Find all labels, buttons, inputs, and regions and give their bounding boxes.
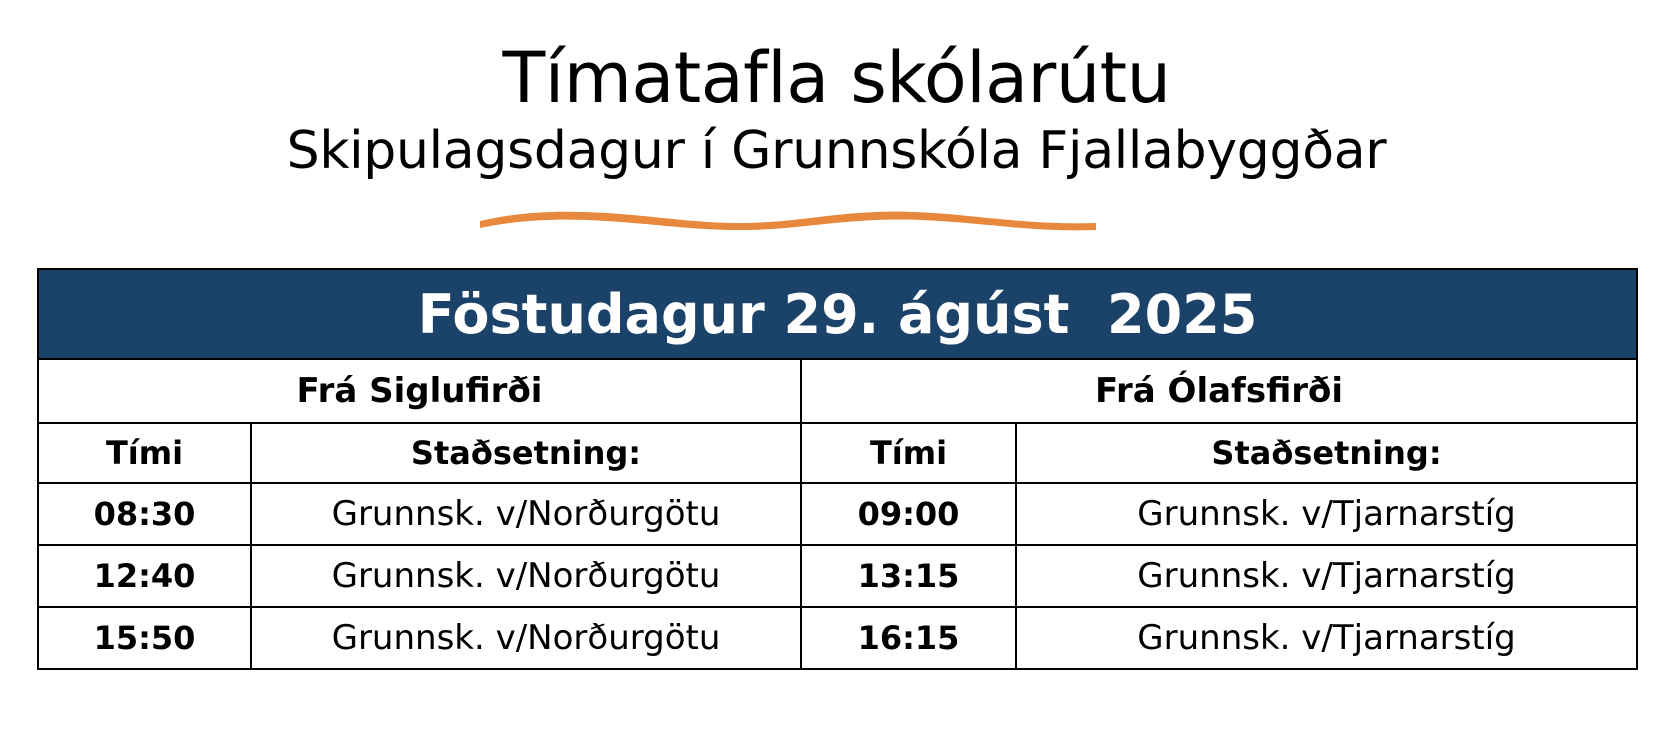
table-row: 15:50 Grunnsk. v/Norðurgötu 16:15 Grunns… [38, 607, 1637, 669]
cell-time-siglufjordur: 15:50 [38, 607, 251, 669]
page-subtitle: Skipulagsdagur í Grunnskóla Fjallabyggða… [0, 120, 1673, 182]
cell-location-siglufjordur: Grunnsk. v/Norðurgötu [251, 607, 801, 669]
column-header-time-left: Tími [38, 423, 251, 483]
table-row-column-headers: Tími Staðsetning: Tími Staðsetning: [38, 423, 1637, 483]
wave-divider-icon [478, 203, 1098, 237]
table-row: 08:30 Grunnsk. v/Norðurgötu 09:00 Grunns… [38, 483, 1637, 545]
table-row-group-headers: Frá Siglufirði Frá Ólafsfirði [38, 359, 1637, 423]
cell-time-olafsfjordur: 13:15 [801, 545, 1016, 607]
title-block: Tímatafla skólarútu Skipulagsdagur í Gru… [0, 38, 1673, 182]
group-header-olafsfjordur: Frá Ólafsfirði [801, 359, 1637, 423]
orange-wave-divider [478, 203, 1098, 237]
table-row-day-banner: Föstudagur 29. ágúst 2025 [38, 269, 1637, 359]
page-title: Tímatafla skólarútu [0, 38, 1673, 118]
group-header-siglufjordur: Frá Siglufirði [38, 359, 801, 423]
column-header-time-right: Tími [801, 423, 1016, 483]
column-header-location-right: Staðsetning: [1016, 423, 1637, 483]
cell-time-olafsfjordur: 16:15 [801, 607, 1016, 669]
cell-time-siglufjordur: 12:40 [38, 545, 251, 607]
bus-schedule-table: Föstudagur 29. ágúst 2025 Frá Siglufirði… [37, 268, 1638, 670]
cell-location-olafsfjordur: Grunnsk. v/Tjarnarstíg [1016, 607, 1637, 669]
cell-time-olafsfjordur: 09:00 [801, 483, 1016, 545]
cell-location-siglufjordur: Grunnsk. v/Norðurgötu [251, 483, 801, 545]
cell-time-siglufjordur: 08:30 [38, 483, 251, 545]
cell-location-olafsfjordur: Grunnsk. v/Tjarnarstíg [1016, 545, 1637, 607]
table-row: 12:40 Grunnsk. v/Norðurgötu 13:15 Grunns… [38, 545, 1637, 607]
cell-location-siglufjordur: Grunnsk. v/Norðurgötu [251, 545, 801, 607]
schedule-page: Tímatafla skólarútu Skipulagsdagur í Gru… [0, 0, 1673, 743]
day-banner: Föstudagur 29. ágúst 2025 [38, 269, 1637, 359]
column-header-location-left: Staðsetning: [251, 423, 801, 483]
cell-location-olafsfjordur: Grunnsk. v/Tjarnarstíg [1016, 483, 1637, 545]
